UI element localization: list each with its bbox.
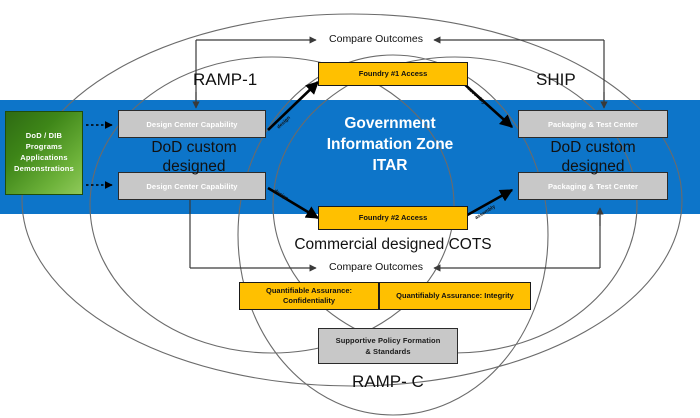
design-center-capability-top[interactable]: Design Center Capability	[118, 110, 266, 138]
right-dod-custom-line2: designed	[518, 158, 668, 176]
zone-line-2: Information Zone	[300, 135, 480, 156]
compare-outcomes-top: Compare Outcomes	[320, 33, 432, 45]
assurance-conf-line2: Confidentiality	[283, 296, 335, 307]
government-information-zone-label: Government Information Zone ITAR	[300, 114, 480, 177]
zone-line-1: Government	[300, 114, 480, 135]
dod-dib-source-box[interactable]: DoD / DIB Programs Applications Demonstr…	[5, 111, 83, 195]
assurance-integrity[interactable]: Quantifiably Assurance: Integrity	[379, 282, 531, 310]
assurance-confidentiality[interactable]: Quantifiable Assurance: Confidentiality	[239, 282, 379, 310]
commercial-designed-cots-label: Commercial designed COTS	[243, 236, 543, 254]
ramp-1-label: RAMP-1	[193, 70, 257, 90]
ramp-c-label: RAMP- C	[352, 372, 424, 392]
policy-line-2: & Standards	[365, 346, 410, 357]
assurance-conf-line1: Quantifiable Assurance:	[266, 286, 352, 297]
left-dod-custom-line1: DoD custom	[120, 139, 268, 157]
source-line-2: Programs	[14, 142, 74, 153]
source-line-1: DoD / DIB	[14, 131, 74, 142]
policy-line-1: Supportive Policy Formation	[336, 335, 441, 346]
design-center-capability-bottom[interactable]: Design Center Capability	[118, 172, 266, 200]
foundry-1-access[interactable]: Foundry #1 Access	[318, 62, 468, 86]
source-line-4: Demonstrations	[14, 164, 74, 175]
ship-label: SHIP	[536, 70, 576, 90]
source-line-3: Applications	[14, 153, 74, 164]
foundry-2-access[interactable]: Foundry #2 Access	[318, 206, 468, 230]
compare-outcomes-bottom: Compare Outcomes	[320, 261, 432, 273]
diagram-canvas: DoD / DIB Programs Applications Demonstr…	[0, 0, 700, 418]
packaging-test-center-bottom[interactable]: Packaging & Test Center	[518, 172, 668, 200]
zone-line-3: ITAR	[300, 156, 480, 177]
left-dod-custom-line2: designed	[120, 158, 268, 176]
packaging-test-center-top[interactable]: Packaging & Test Center	[518, 110, 668, 138]
supportive-policy-box[interactable]: Supportive Policy Formation & Standards	[318, 328, 458, 364]
right-dod-custom-line1: DoD custom	[518, 139, 668, 157]
